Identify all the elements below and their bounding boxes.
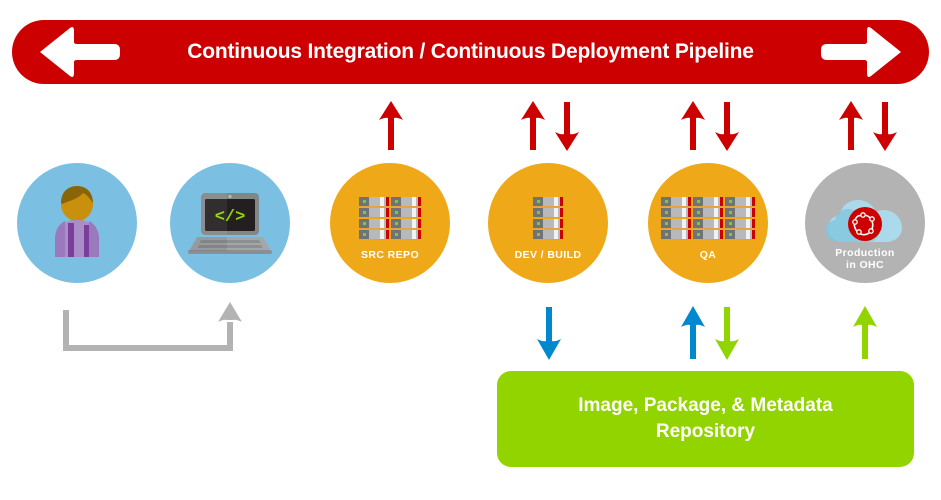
node-production[interactable]: Production in OHC	[805, 163, 925, 283]
connector-developer-to-workstation	[60, 300, 250, 356]
node-label-production: Production in OHC	[805, 247, 925, 271]
node-label-src-repo: SRC REPO	[330, 249, 450, 261]
server-rack-icon	[359, 197, 421, 240]
repository-label-line1: Image, Package, & Metadata	[578, 395, 833, 416]
arrow-down-qa-to-repository	[714, 305, 740, 361]
repository-label-line2: Repository	[656, 421, 755, 442]
arrow-down-dev-build-to-repository	[536, 305, 562, 361]
node-dev-build[interactable]: DEV / BUILD	[488, 163, 608, 283]
arrow-up-src-repo	[378, 100, 404, 152]
arrow-left-icon	[34, 25, 122, 79]
node-developer[interactable]	[17, 163, 137, 283]
node-src-repo[interactable]: SRC REPO	[330, 163, 450, 283]
node-label-qa: QA	[648, 249, 768, 261]
node-workstation[interactable]: </>	[170, 163, 290, 283]
arrow-down-production	[872, 100, 898, 152]
arrow-down-qa	[714, 100, 740, 152]
node-label-dev-build: DEV / BUILD	[488, 249, 608, 261]
person-icon	[41, 183, 113, 261]
laptop-code-icon: </>	[187, 189, 273, 257]
cicd-pipeline-bar: Continuous Integration / Continuous Depl…	[12, 20, 929, 84]
node-label-production-line2: in OHC	[846, 259, 884, 271]
arrow-up-dev-build	[520, 100, 546, 152]
arrow-right-icon	[819, 25, 907, 79]
diagram-canvas: Continuous Integration / Continuous Depl…	[0, 0, 941, 500]
arrow-down-dev-build	[554, 100, 580, 152]
repository-box[interactable]: Image, Package, & Metadata Repository	[497, 371, 914, 467]
cloud-openshift-icon	[823, 190, 907, 246]
page-title: Continuous Integration / Continuous Depl…	[187, 40, 754, 64]
arrow-up-production-from-repository	[852, 305, 878, 361]
server-rack-icon	[533, 197, 563, 240]
repository-label: Image, Package, & Metadata Repository	[578, 393, 833, 445]
arrow-up-qa-from-repository	[680, 305, 706, 361]
node-label-production-line1: Production	[835, 247, 894, 259]
node-qa[interactable]: QA	[648, 163, 768, 283]
arrow-up-qa	[680, 100, 706, 152]
server-rack-icon	[661, 197, 755, 240]
arrow-up-production	[838, 100, 864, 152]
